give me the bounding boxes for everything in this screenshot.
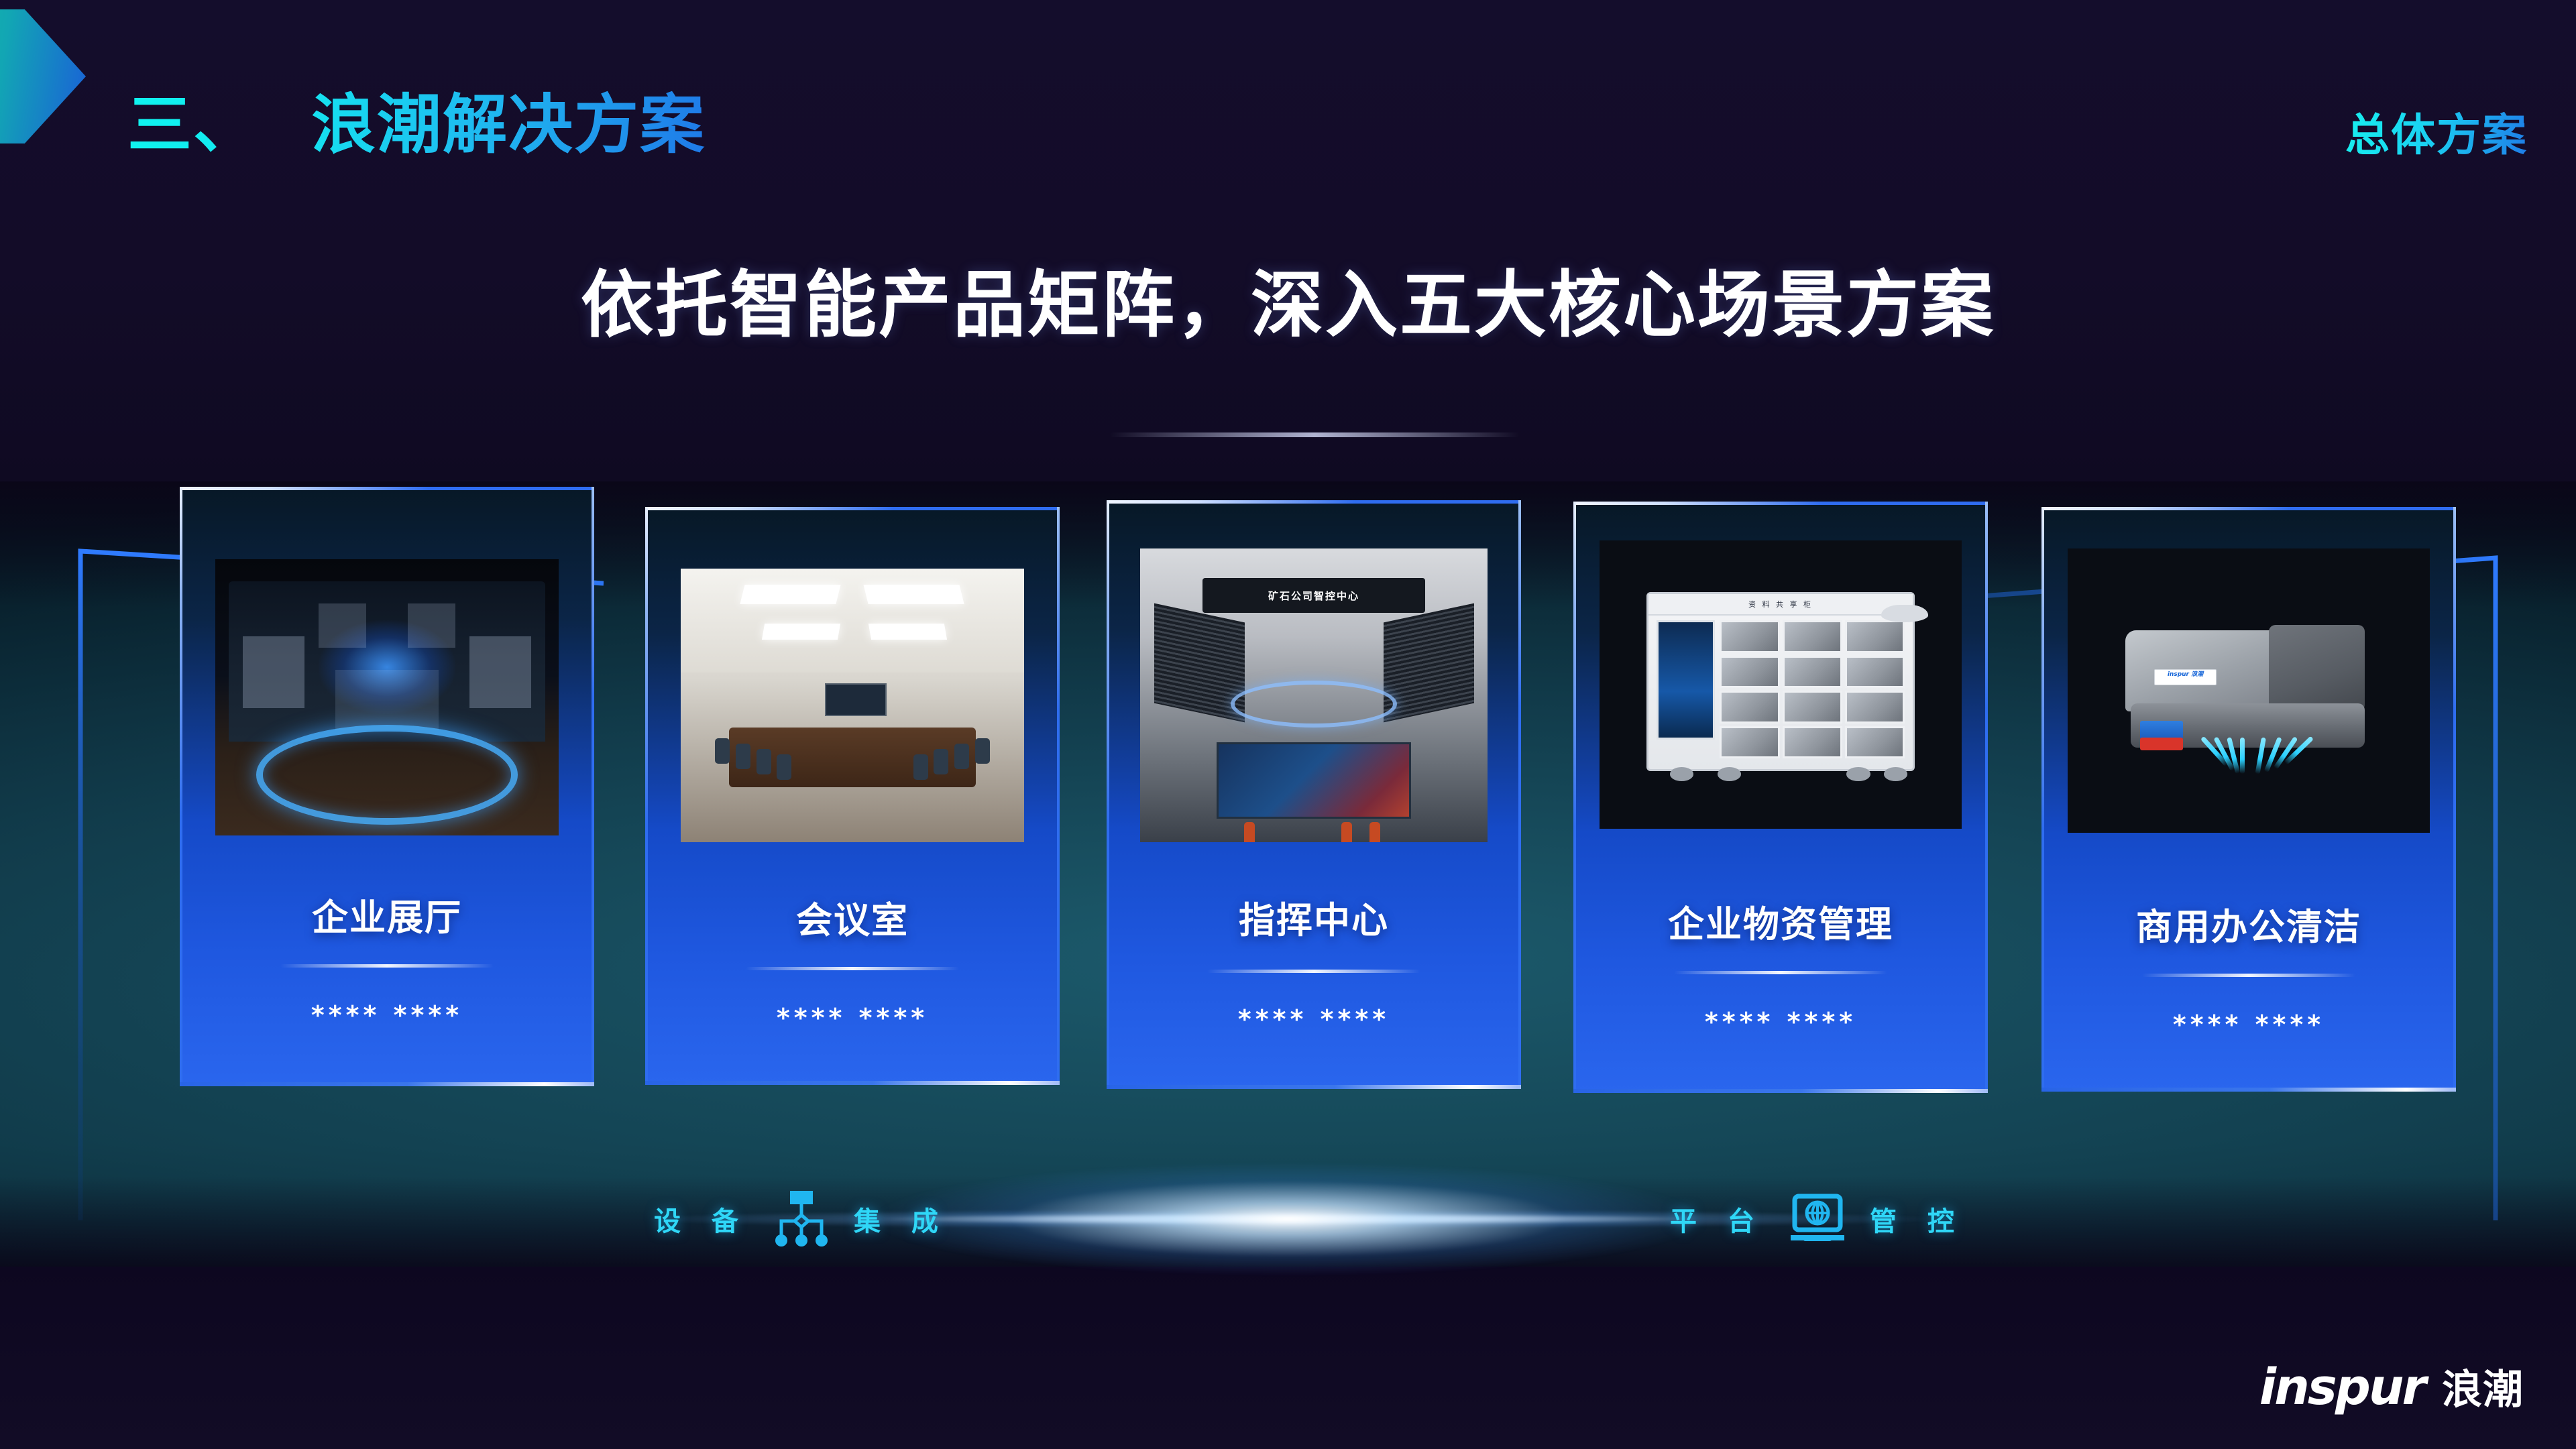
footer-left-group: 设 备 集 成 <box>654 1187 949 1251</box>
cleaning-robot-photo: inspur 浪潮 <box>2068 548 2430 833</box>
footer-right-label-1: 平 台 <box>1670 1200 1765 1238</box>
card-left-edge <box>2041 507 2044 1092</box>
scene-card[interactable]: 企业展厅 **** **** <box>180 487 594 1086</box>
exhibition-hall-photo <box>215 559 559 835</box>
network-topology-icon <box>769 1187 834 1251</box>
background-bottom-band <box>0 1267 2576 1449</box>
smart-locker-photo: 资 料 共 享 柜 <box>1600 540 1962 829</box>
card-left-edge <box>1573 502 1576 1093</box>
footer-right-group: 平 台 管 控 <box>1670 1187 1965 1251</box>
card-divider <box>2142 974 2355 977</box>
scene-card[interactable]: 资 料 共 享 柜 企业物资管理 **** *** <box>1573 502 1988 1093</box>
status-badge: 总体方案 <box>2345 99 2528 164</box>
logo-wordmark-en: inspur <box>2259 1365 2424 1410</box>
section-number: 三、 <box>127 87 259 162</box>
locker-sign: 资 料 共 享 柜 <box>1648 594 1913 615</box>
scene-card[interactable]: 会议室 **** **** <box>645 507 1060 1085</box>
card-title: 商用办公清洁 <box>2041 897 2456 950</box>
section-title: 浪潮解决方案 <box>311 87 706 162</box>
card-title: 会议室 <box>645 890 1060 943</box>
card-title: 企业展厅 <box>180 888 594 941</box>
robot-brand-logo: inspur 浪潮 <box>2154 669 2217 685</box>
inspur-logo: inspur 浪潮 <box>2259 1365 2524 1410</box>
slide-canvas: 三、浪潮解决方案 总体方案 依托智能产品矩阵，深入五大核心场景方案 <box>0 0 2576 1449</box>
command-center-photo: 矿石公司智控中心 <box>1140 548 1488 842</box>
card-right-edge <box>1057 507 1060 1085</box>
card-title: 企业物资管理 <box>1573 894 1988 947</box>
footer-right-label-2: 管 控 <box>1870 1200 1965 1238</box>
logo-wordmark-cn: 浪潮 <box>2442 1370 2524 1410</box>
headline: 依托智能产品矩阵，深入五大核心场景方案 <box>0 247 2576 351</box>
card-placeholder-text: **** **** <box>2041 1010 2456 1039</box>
command-center-sign: 矿石公司智控中心 <box>1202 578 1425 614</box>
card-divider <box>1674 971 1887 974</box>
card-divider <box>746 967 959 970</box>
scene-card[interactable]: inspur 浪潮 商用办公清洁 * <box>2041 507 2456 1092</box>
card-placeholder-text: **** **** <box>645 1003 1060 1033</box>
page-title: 三、浪潮解决方案 <box>127 72 706 166</box>
card-right-edge <box>1985 502 1988 1093</box>
card-divider <box>280 964 494 968</box>
card-right-edge <box>592 487 594 1086</box>
card-placeholder-text: **** **** <box>1107 1004 1521 1034</box>
card-left-edge <box>180 487 182 1086</box>
footer-left-label-1: 设 备 <box>654 1200 749 1238</box>
card-right-edge <box>2453 507 2456 1092</box>
headline-divider <box>1110 432 1519 437</box>
card-placeholder-text: **** **** <box>180 1000 594 1030</box>
card-divider <box>1207 970 1420 973</box>
scene-card[interactable]: 矿石公司智控中心 指挥中心 **** **** <box>1107 500 1521 1089</box>
robot-brush-icon <box>2197 738 2331 774</box>
card-placeholder-text: **** **** <box>1573 1007 1988 1037</box>
card-left-edge <box>1107 500 1109 1089</box>
footer-left-label-2: 集 成 <box>854 1200 949 1238</box>
card-right-edge <box>1518 500 1521 1089</box>
laptop-globe-icon <box>1785 1187 1850 1251</box>
card-left-edge <box>645 507 648 1085</box>
card-title: 指挥中心 <box>1107 890 1521 943</box>
meeting-room-photo <box>681 569 1024 842</box>
